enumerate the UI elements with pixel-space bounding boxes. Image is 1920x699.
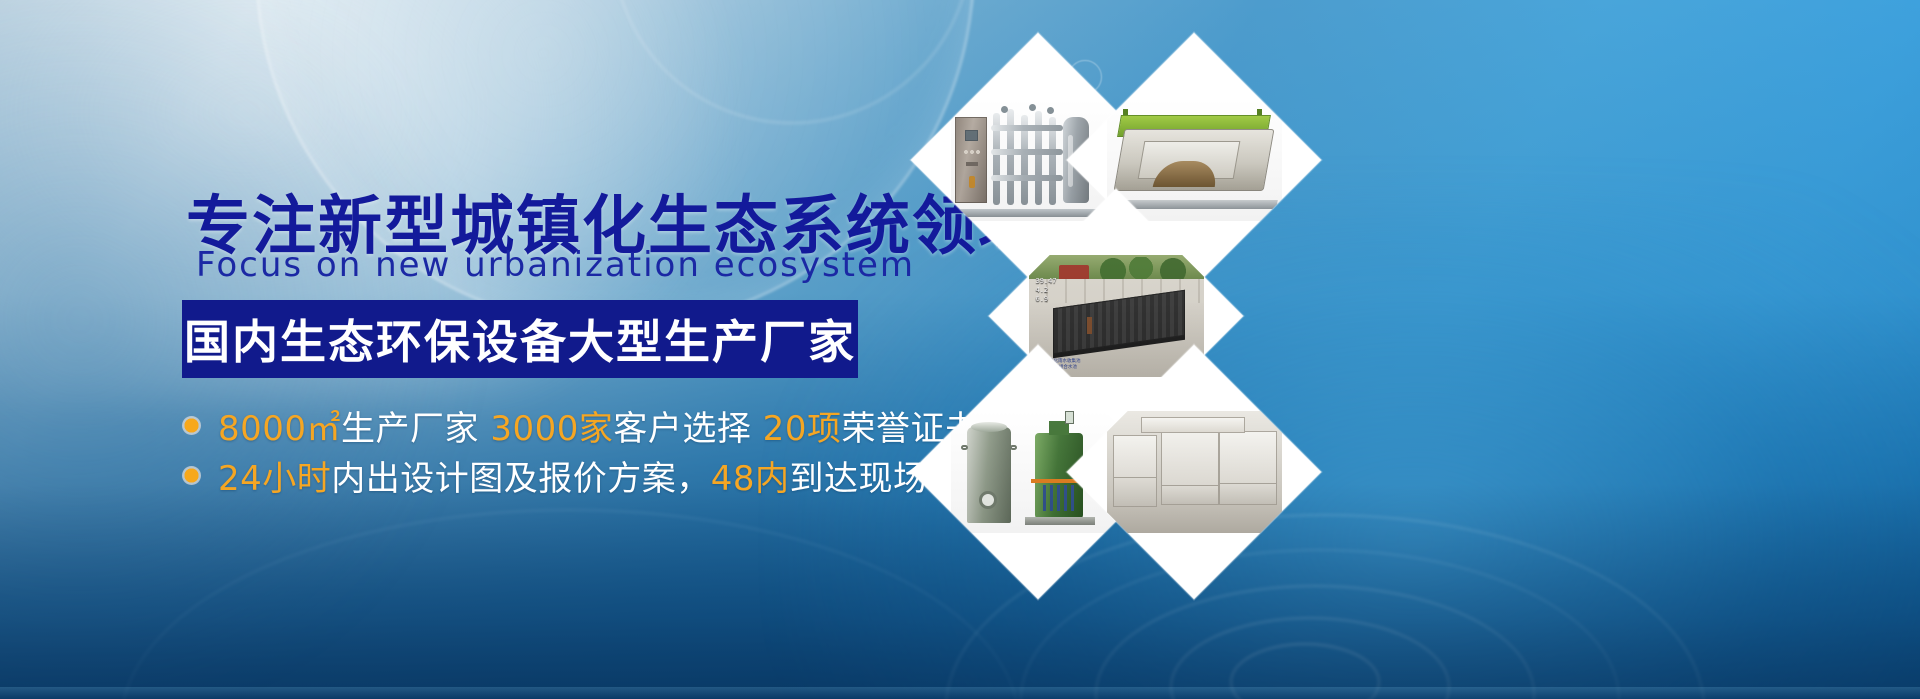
hero-banner: 专注新型城镇化生态系统领域 Focus on new urbanization …	[0, 0, 1920, 699]
feature-text-1: 8000㎡生产厂家 3000家客户选择 20项荣誉证书	[218, 401, 979, 450]
feature-highlight: 48内	[711, 459, 790, 499]
feature-list: 8000㎡生产厂家 3000家客户选择 20项荣誉证书 24小时内出设计图及报价…	[182, 400, 922, 500]
bullet-dot-icon	[182, 416, 201, 435]
ribbon-label: 国内生态环保设备大型生产厂家	[184, 306, 856, 372]
feature-plain: 客户选择	[613, 409, 751, 449]
feature-highlight: 家	[579, 409, 614, 449]
hero-copy-block: 专注新型城镇化生态系统领域 Focus on new urbanization …	[0, 0, 920, 699]
list-item: 24小时内出设计图及报价方案，48内到达现场	[182, 450, 922, 500]
highlight-ribbon: 国内生态环保设备大型生产厂家	[182, 300, 858, 378]
feature-highlight: 8000	[218, 409, 307, 449]
list-item: 8000㎡生产厂家 3000家客户选择 20项荣誉证书	[182, 400, 922, 450]
bullet-dot-icon	[182, 466, 201, 485]
feature-plain: 内出设计图及报价方案，	[331, 459, 711, 499]
feature-highlight: 3000	[479, 409, 579, 449]
product-photo-grid: 39.474.26.9 模块化雨水收集池PP模块组合水池	[908, 56, 1338, 496]
feature-plain: 到达现场	[790, 459, 928, 499]
feature-highlight: ㎡	[307, 409, 342, 449]
feature-plain: 生产厂家	[341, 409, 479, 449]
feature-text-2: 24小时内出设计图及报价方案，48内到达现场	[218, 451, 928, 500]
feature-highlight: 24小时	[218, 459, 331, 499]
page-subtitle: Focus on new urbanization ecosystem	[196, 245, 915, 285]
feature-highlight: 20项	[751, 409, 841, 449]
